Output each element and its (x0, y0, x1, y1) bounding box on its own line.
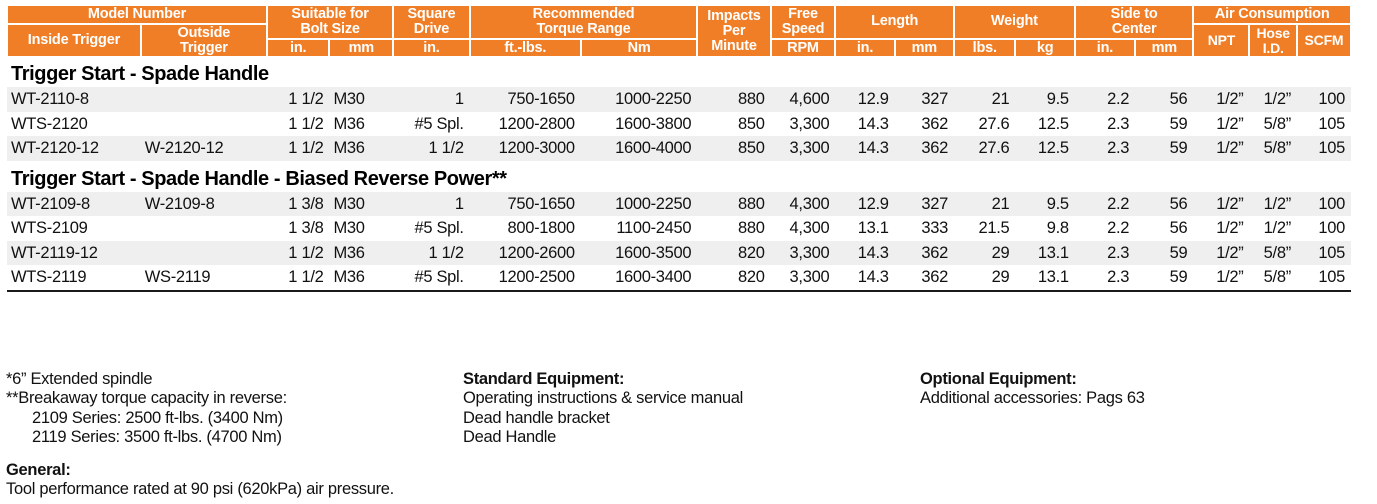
header-bolt-in: in. (267, 39, 330, 58)
cell-weight-kg: 12.5 (1015, 112, 1074, 137)
cell-hose-id: 1/2” (1249, 216, 1296, 241)
header-side-line1: Side to (1111, 6, 1158, 22)
cell-length-mm: 362 (895, 265, 954, 291)
cell-length-mm: 327 (895, 192, 954, 217)
cell-impacts-per-minute: 820 (697, 241, 770, 266)
cell-weight-kg: 9.8 (1015, 216, 1074, 241)
header-impacts-line1: Impacts (707, 8, 760, 24)
cell-length-in: 14.3 (835, 136, 894, 161)
cell-length-mm: 362 (895, 112, 954, 137)
cell-side-mm: 59 (1135, 265, 1193, 291)
cell-length-in: 14.3 (835, 265, 894, 291)
header-group-drive-line1: Square (407, 6, 455, 22)
header-free-speed-line1: Free (788, 6, 818, 22)
table-bottom-rule-cell (7, 291, 1351, 295)
cell-length-in: 14.3 (835, 241, 894, 266)
cell-npt: 1/2” (1193, 87, 1249, 112)
cell-npt: 1/2” (1193, 136, 1249, 161)
header-drive-in: in. (393, 39, 470, 58)
cell-length-mm: 362 (895, 241, 954, 266)
cell-side-mm: 56 (1135, 192, 1193, 217)
cell-free-speed-rpm: 4,600 (771, 87, 836, 112)
cell-scfm: 105 (1297, 265, 1351, 291)
header-torque-ftlbs: ft.-lbs. (470, 39, 581, 58)
cell-side-mm: 59 (1135, 112, 1193, 137)
cell-npt: 1/2” (1193, 265, 1249, 291)
cell-impacts-per-minute: 850 (697, 112, 770, 137)
header-group-drive-line2: Drive (414, 21, 449, 37)
cell-scfm: 100 (1297, 87, 1351, 112)
table-row: WTS-21091 3/8M30#5 Spl.800-18001100-2450… (7, 216, 1351, 241)
header-hose-id-line2: I.D. (1263, 40, 1284, 56)
cell-length-in: 12.9 (835, 192, 894, 217)
table-row: WTS-21201 1/2M36#5 Spl.1200-28001600-380… (7, 112, 1351, 137)
standard-equipment-column: Standard Equipment: Operating instructio… (463, 370, 903, 448)
cell-torque-ftlbs: 1200-2800 (470, 112, 581, 137)
specifications-table: Model Number Suitable for Bolt Size Squa… (6, 4, 1352, 295)
cell-free-speed-rpm: 4,300 (771, 192, 836, 217)
header-group-bolt-line1: Suitable for (291, 6, 368, 22)
table-row: WT-2119-121 1/2M361 1/21200-26001600-350… (7, 241, 1351, 266)
cell-torque-nm: 1000-2250 (581, 87, 697, 112)
cell-free-speed-rpm: 3,300 (771, 112, 836, 137)
cell-torque-ftlbs: 750-1650 (470, 87, 581, 112)
cell-torque-nm: 1600-3400 (581, 265, 697, 291)
cell-drive-in: #5 Spl. (393, 265, 470, 291)
section-heading-row: Trigger Start - Spade Handle (7, 57, 1351, 87)
cell-drive-in: #5 Spl. (393, 112, 470, 137)
cell-outside-trigger (141, 241, 267, 266)
cell-free-speed-rpm: 3,300 (771, 136, 836, 161)
optional-equipment-title: Optional Equipment: (920, 370, 1370, 389)
cell-torque-nm: 1000-2250 (581, 192, 697, 217)
cell-inside-trigger: WT-2119-12 (7, 241, 141, 266)
cell-free-speed-rpm: 3,300 (771, 241, 836, 266)
cell-impacts-per-minute: 850 (697, 136, 770, 161)
cell-length-in: 12.9 (835, 87, 894, 112)
header-group-recommended-torque-range: Recommended Torque Range (470, 5, 698, 39)
note-spacer (6, 448, 456, 461)
section-heading-row: Trigger Start - Spade Handle - Biased Re… (7, 161, 1351, 192)
header-free-speed-line2: Speed (782, 21, 825, 37)
cell-outside-trigger (141, 112, 267, 137)
cell-npt: 1/2” (1193, 216, 1249, 241)
cell-hose-id: 1/2” (1249, 192, 1296, 217)
cell-scfm: 100 (1297, 216, 1351, 241)
cell-length-mm: 327 (895, 87, 954, 112)
cell-side-mm: 56 (1135, 87, 1193, 112)
header-side-line2: Center (1112, 21, 1157, 37)
cell-drive-in: 1 1/2 (393, 136, 470, 161)
cell-impacts-per-minute: 880 (697, 192, 770, 217)
cell-scfm: 105 (1297, 112, 1351, 137)
cell-impacts-per-minute: 880 (697, 216, 770, 241)
header-group-square-drive: Square Drive (393, 5, 470, 39)
header-outside-trigger-line1: Outside (178, 25, 231, 41)
cell-free-speed-rpm: 4,300 (771, 216, 836, 241)
cell-inside-trigger: WT-2120-12 (7, 136, 141, 161)
table-row: WT-2110-81 1/2M301750-16501000-22508804,… (7, 87, 1351, 112)
cell-free-speed-rpm: 3,300 (771, 265, 836, 291)
header-weight-kg: kg (1015, 39, 1074, 58)
cell-bolt-in: 1 1/2 (267, 87, 330, 112)
cell-scfm: 105 (1297, 241, 1351, 266)
cell-bolt-in: 1 1/2 (267, 112, 330, 137)
cell-weight-lbs: 21 (954, 87, 1015, 112)
cell-side-in: 2.2 (1075, 192, 1135, 217)
cell-inside-trigger: WT-2109-8 (7, 192, 141, 217)
footnotes: *6” Extended spindle **Breakaway torque … (6, 370, 1371, 500)
cell-bolt-in: 1 1/2 (267, 241, 330, 266)
table-bottom-rule (7, 291, 1351, 295)
cell-impacts-per-minute: 880 (697, 87, 770, 112)
cell-weight-kg: 12.5 (1015, 136, 1074, 161)
header-group-free-speed: Free Speed (771, 5, 836, 39)
cell-bolt-in: 1 3/8 (267, 192, 330, 217)
cell-side-in: 2.2 (1075, 216, 1135, 241)
cell-weight-kg: 9.5 (1015, 192, 1074, 217)
cell-outside-trigger: WS-2119 (141, 265, 267, 291)
cell-inside-trigger: WT-2110-8 (7, 87, 141, 112)
cell-torque-ftlbs: 750-1650 (470, 192, 581, 217)
header-side-mm: mm (1135, 39, 1193, 58)
header-inside-trigger: Inside Trigger (7, 24, 141, 58)
header-npt: NPT (1193, 24, 1249, 58)
header-impacts-per-minute: Impacts Per Minute (697, 5, 770, 57)
note-general-line1: Tool performance rated at 90 psi (620kPa… (6, 480, 456, 499)
header-group-model-number: Model Number (7, 5, 267, 24)
spec-sheet: Model Number Suitable for Bolt Size Squa… (0, 0, 1377, 504)
cell-bolt-mm: M30 (329, 192, 393, 217)
cell-weight-kg: 13.1 (1015, 241, 1074, 266)
cell-side-in: 2.3 (1075, 265, 1135, 291)
cell-impacts-per-minute: 820 (697, 265, 770, 291)
cell-outside-trigger (141, 87, 267, 112)
cell-bolt-mm: M30 (329, 87, 393, 112)
cell-side-in: 2.3 (1075, 241, 1135, 266)
header-side-in: in. (1075, 39, 1135, 58)
table-body: Trigger Start - Spade HandleWT-2110-81 1… (7, 57, 1351, 295)
cell-bolt-in: 1 1/2 (267, 265, 330, 291)
optional-equipment-item-1: Additional accessories: Pags 63 (920, 389, 1370, 408)
header-outside-trigger-line2: Trigger (180, 40, 228, 56)
cell-hose-id: 5/8” (1249, 136, 1296, 161)
note-breakaway-torque: **Breakaway torque capacity in reverse: (6, 389, 456, 408)
cell-weight-lbs: 21 (954, 192, 1015, 217)
cell-bolt-in: 1 1/2 (267, 136, 330, 161)
cell-hose-id: 1/2” (1249, 87, 1296, 112)
cell-scfm: 100 (1297, 192, 1351, 217)
cell-outside-trigger: W-2109-8 (141, 192, 267, 217)
cell-weight-lbs: 27.6 (954, 112, 1015, 137)
cell-weight-lbs: 27.6 (954, 136, 1015, 161)
cell-length-in: 13.1 (835, 216, 894, 241)
cell-hose-id: 5/8” (1249, 112, 1296, 137)
cell-length-mm: 333 (895, 216, 954, 241)
cell-weight-lbs: 21.5 (954, 216, 1015, 241)
header-group-bolt-line2: Bolt Size (300, 21, 359, 37)
cell-outside-trigger (141, 216, 267, 241)
header-row-groups: Model Number Suitable for Bolt Size Squa… (7, 5, 1351, 24)
cell-bolt-mm: M30 (329, 216, 393, 241)
header-group-torque-line1: Recommended (533, 6, 635, 22)
header-rpm: RPM (771, 39, 836, 58)
cell-drive-in: 1 (393, 192, 470, 217)
header-outside-trigger: Outside Trigger (141, 24, 267, 58)
table-row: WTS-2119WS-21191 1/2M36#5 Spl.1200-25001… (7, 265, 1351, 291)
standard-equipment-item-2: Dead handle bracket (463, 409, 903, 428)
header-length-in: in. (835, 39, 894, 58)
note-extended-spindle: *6” Extended spindle (6, 370, 456, 389)
cell-drive-in: 1 1/2 (393, 241, 470, 266)
standard-equipment-title: Standard Equipment: (463, 370, 903, 389)
cell-inside-trigger: WTS-2119 (7, 265, 141, 291)
header-hose-id: Hose I.D. (1249, 24, 1296, 58)
header-group-side-to-center: Side to Center (1075, 5, 1194, 39)
cell-length-mm: 362 (895, 136, 954, 161)
cell-weight-lbs: 29 (954, 241, 1015, 266)
cell-torque-nm: 1100-2450 (581, 216, 697, 241)
cell-torque-nm: 1600-4000 (581, 136, 697, 161)
section-title: Trigger Start - Spade Handle (7, 57, 1351, 87)
table-row: WT-2109-8W-2109-81 3/8M301750-16501000-2… (7, 192, 1351, 217)
cell-hose-id: 5/8” (1249, 241, 1296, 266)
section-title: Trigger Start - Spade Handle - Biased Re… (7, 161, 1351, 192)
cell-hose-id: 5/8” (1249, 265, 1296, 291)
table-header: Model Number Suitable for Bolt Size Squa… (7, 5, 1351, 57)
header-impacts-line3: Minute (711, 38, 757, 54)
header-torque-nm: Nm (581, 39, 697, 58)
cell-inside-trigger: WTS-2109 (7, 216, 141, 241)
cell-torque-ftlbs: 1200-3000 (470, 136, 581, 161)
cell-bolt-mm: M36 (329, 265, 393, 291)
cell-drive-in: #5 Spl. (393, 216, 470, 241)
cell-torque-ftlbs: 1200-2500 (470, 265, 581, 291)
table-row: WT-2120-12W-2120-121 1/2M361 1/21200-300… (7, 136, 1351, 161)
cell-npt: 1/2” (1193, 192, 1249, 217)
cell-length-in: 14.3 (835, 112, 894, 137)
cell-side-mm: 59 (1135, 241, 1193, 266)
note-2119-series: 2119 Series: 3500 ft-lbs. (4700 Nm) (6, 428, 456, 447)
cell-side-in: 2.2 (1075, 87, 1135, 112)
header-length-mm: mm (895, 39, 954, 58)
cell-side-mm: 56 (1135, 216, 1193, 241)
cell-bolt-mm: M36 (329, 112, 393, 137)
header-impacts-line2: Per (723, 23, 746, 39)
note-general-title: General: (6, 461, 456, 480)
optional-equipment-column: Optional Equipment: Additional accessori… (920, 370, 1370, 409)
header-scfm: SCFM (1297, 24, 1351, 58)
cell-weight-lbs: 29 (954, 265, 1015, 291)
cell-side-in: 2.3 (1075, 112, 1135, 137)
cell-scfm: 105 (1297, 136, 1351, 161)
cell-drive-in: 1 (393, 87, 470, 112)
cell-bolt-in: 1 3/8 (267, 216, 330, 241)
cell-npt: 1/2” (1193, 112, 1249, 137)
header-group-torque-line2: Torque Range (537, 21, 631, 37)
cell-weight-kg: 9.5 (1015, 87, 1074, 112)
cell-torque-nm: 1600-3800 (581, 112, 697, 137)
cell-weight-kg: 13.1 (1015, 265, 1074, 291)
header-bolt-mm: mm (329, 39, 393, 58)
cell-bolt-mm: M36 (329, 241, 393, 266)
footnotes-left-column: *6” Extended spindle **Breakaway torque … (6, 370, 456, 500)
cell-bolt-mm: M36 (329, 136, 393, 161)
cell-side-mm: 59 (1135, 136, 1193, 161)
cell-outside-trigger: W-2120-12 (141, 136, 267, 161)
cell-torque-ftlbs: 1200-2600 (470, 241, 581, 266)
cell-inside-trigger: WTS-2120 (7, 112, 141, 137)
header-weight-lbs: lbs. (954, 39, 1015, 58)
cell-torque-ftlbs: 800-1800 (470, 216, 581, 241)
cell-side-in: 2.3 (1075, 136, 1135, 161)
header-group-suitable-for-bolt-size: Suitable for Bolt Size (267, 5, 393, 39)
header-group-length: Length (835, 5, 954, 39)
standard-equipment-item-3: Dead Handle (463, 428, 903, 447)
cell-npt: 1/2” (1193, 241, 1249, 266)
header-group-air-consumption: Air Consumption (1193, 5, 1351, 24)
standard-equipment-item-1: Operating instructions & service manual (463, 389, 903, 408)
header-group-weight: Weight (954, 5, 1075, 39)
note-2109-series: 2109 Series: 2500 ft-lbs. (3400 Nm) (6, 409, 456, 428)
cell-torque-nm: 1600-3500 (581, 241, 697, 266)
